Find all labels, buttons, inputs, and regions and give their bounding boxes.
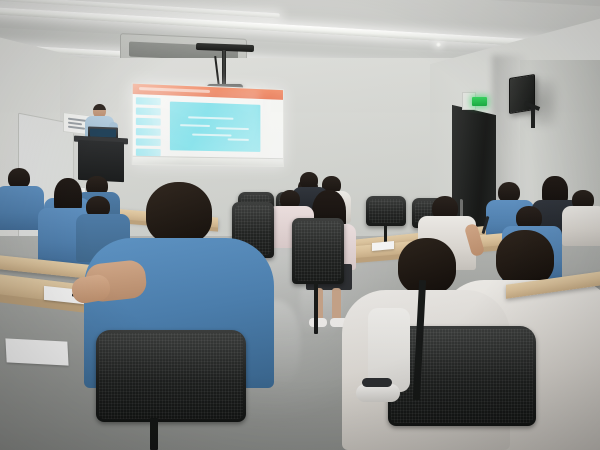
chair-back[interactable] bbox=[366, 196, 406, 226]
screen-menu-item bbox=[136, 128, 161, 136]
attendee-white-far-right-head bbox=[398, 238, 456, 294]
screen-content-panel bbox=[170, 102, 260, 152]
downlight bbox=[436, 42, 441, 47]
screen-app-header-text bbox=[139, 87, 210, 93]
screen-taskbar bbox=[133, 156, 283, 166]
projection-screen bbox=[132, 83, 284, 167]
screen-menu-item bbox=[136, 107, 161, 115]
exit-sign bbox=[472, 97, 487, 106]
chair-back[interactable] bbox=[96, 330, 246, 422]
sneaker-stripe bbox=[362, 378, 392, 387]
attendee-white-right-foreground-head bbox=[496, 230, 554, 286]
speaker-bracket-post bbox=[531, 106, 535, 128]
screen-menu-item bbox=[136, 138, 161, 146]
attendee-white-back-far-torso bbox=[562, 206, 600, 246]
chair-back[interactable] bbox=[388, 326, 536, 426]
screen-menu-item bbox=[136, 97, 161, 105]
attendee-blue-foreground-head bbox=[146, 182, 212, 244]
screen-app-sidebar bbox=[136, 97, 163, 155]
screen-menu-item bbox=[136, 118, 161, 126]
paper-sheet bbox=[5, 338, 68, 365]
classroom-training-photo: ⛔ bbox=[0, 0, 600, 450]
chair-back[interactable] bbox=[292, 218, 344, 284]
shoe bbox=[309, 318, 327, 327]
leg bbox=[332, 288, 341, 322]
projector-pole bbox=[222, 50, 226, 86]
